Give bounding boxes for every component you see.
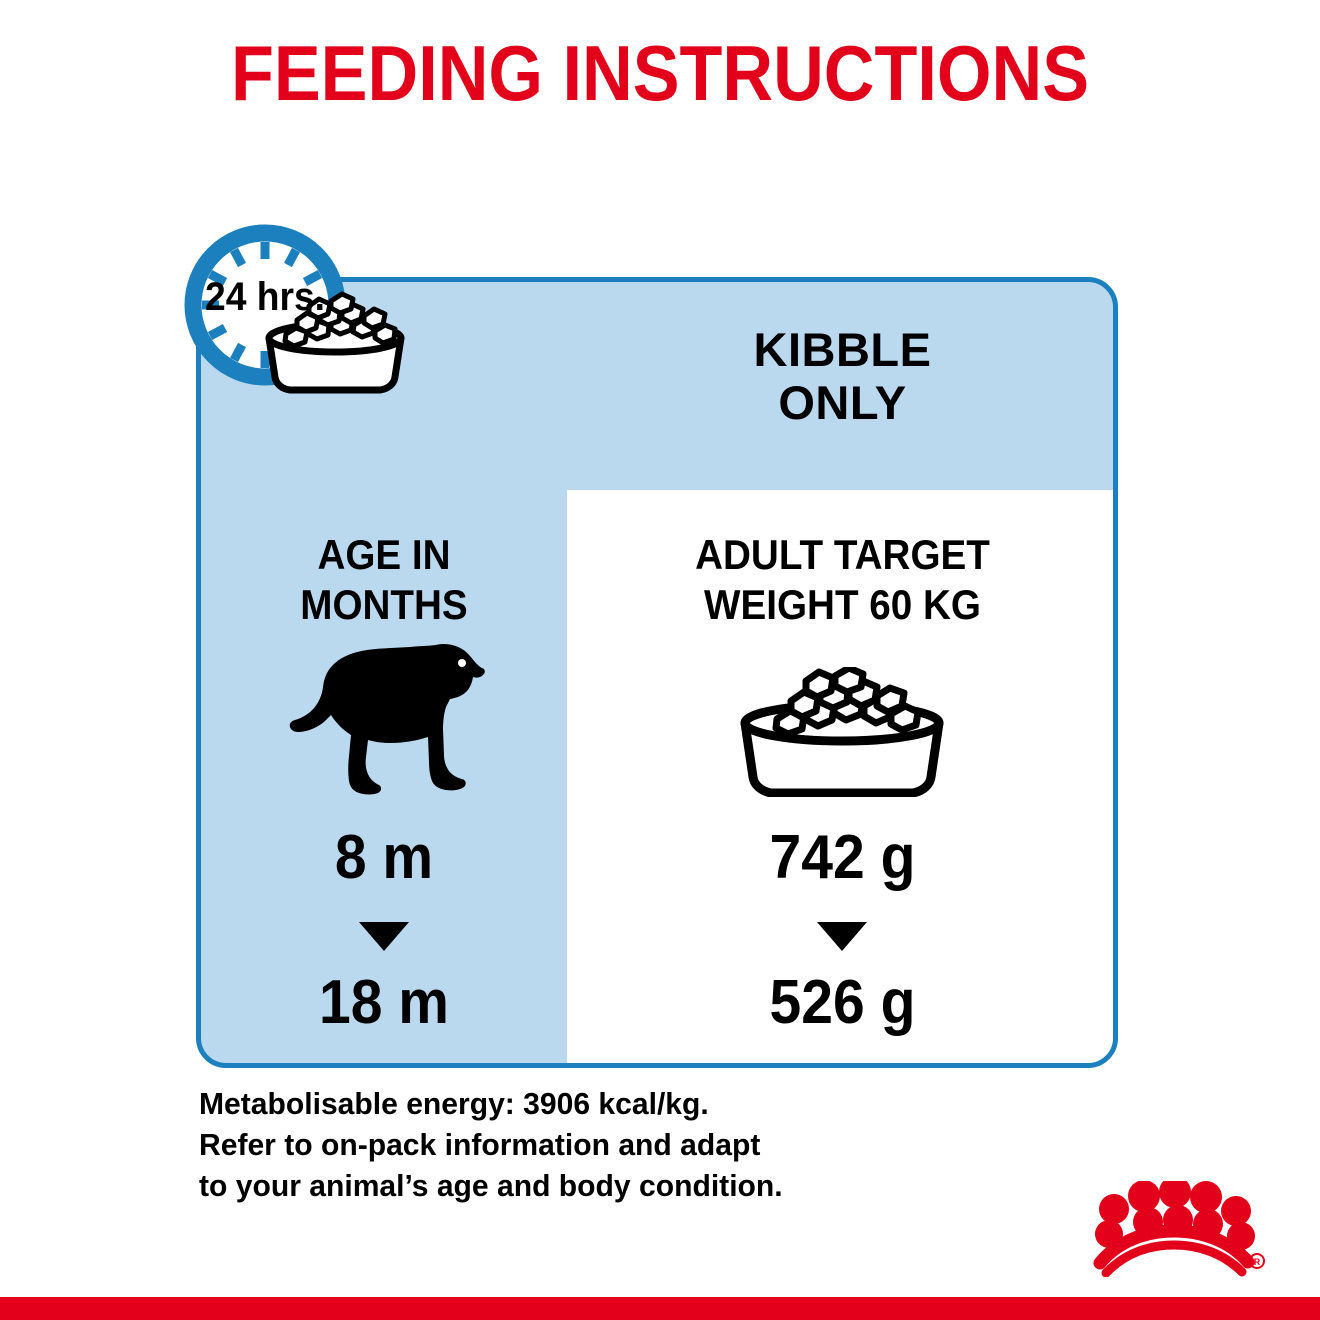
kibble-only-header: KIBBLE ONLY — [567, 324, 1118, 429]
triangle-down-icon-weight — [817, 922, 867, 951]
bottom-accent-bar — [0, 1297, 1320, 1320]
column-header-weight-line1: ADULT TARGET — [589, 530, 1096, 580]
weight-value-from: 742 g — [589, 827, 1096, 889]
dog-bowl-icon — [731, 667, 953, 797]
column-header-age-line1: AGE IN — [216, 530, 553, 580]
footnote: Metabolisable energy: 3906 kcal/kg. Refe… — [199, 1083, 936, 1207]
page-title: FEEDING INSTRUCTIONS — [66, 34, 1254, 112]
column-header-age: AGE IN MONTHS — [216, 530, 553, 629]
royal-canin-crown-logo: R — [1078, 1181, 1268, 1277]
footnote-line-2: Refer to on-pack information and adapt — [199, 1124, 936, 1165]
kibble-only-line1: KIBBLE — [567, 324, 1118, 377]
triangle-down-icon-age — [359, 922, 409, 951]
dog-silhouette-icon — [286, 637, 486, 802]
column-header-adult-target-weight: ADULT TARGET WEIGHT 60 KG — [589, 530, 1096, 629]
footnote-line-3: to your animal’s age and body condition. — [199, 1165, 936, 1206]
column-header-age-line2: MONTHS — [216, 580, 553, 630]
age-value-from: 8 m — [216, 827, 553, 889]
footnote-line-1: Metabolisable energy: 3906 kcal/kg. — [199, 1083, 936, 1124]
weight-value-to: 526 g — [589, 972, 1096, 1034]
kibble-only-line2: ONLY — [567, 377, 1118, 430]
svg-text:R: R — [1254, 1257, 1261, 1267]
age-value-to: 18 m — [216, 972, 553, 1034]
clock-badge-group: 24 hrs. — [172, 222, 482, 422]
clock-badge-label: 24 hrs. — [195, 275, 335, 320]
column-header-weight-line2: WEIGHT 60 KG — [589, 580, 1096, 630]
